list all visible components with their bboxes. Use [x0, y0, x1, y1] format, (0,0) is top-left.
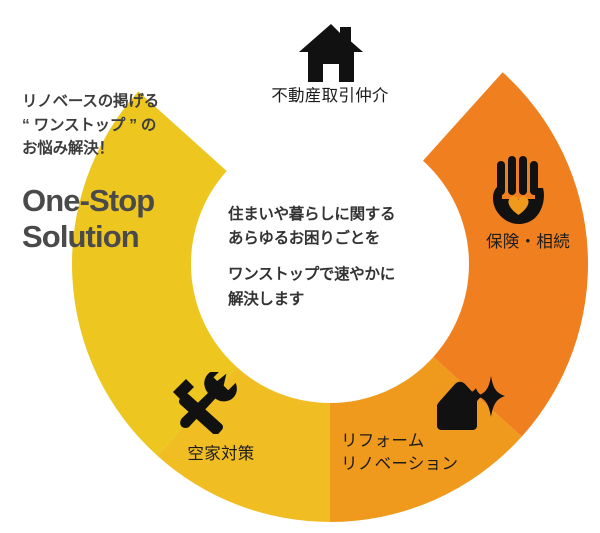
lead-line-2: “ ワンストップ ” の	[22, 114, 232, 138]
page-title: One-Stop Solution	[22, 183, 232, 256]
center-paragraph-1-line-2: あらゆるお困りごとを	[228, 227, 464, 251]
segment-label-insurance[interactable]: 保険・相続	[486, 231, 570, 254]
segment-label-reform-line-2: リノベーション	[341, 453, 458, 476]
lead-line-1: リノベースの掲げる	[22, 90, 232, 114]
center-paragraph-2: ワンストップで速やかに 解決します	[228, 263, 464, 311]
hand-heart-icon	[490, 155, 550, 225]
center-paragraph-2-line-2: 解決します	[228, 288, 464, 312]
center-copy-block: 住まいや暮らしに関する あらゆるお困りごとを ワンストップで速やかに 解決します	[228, 203, 464, 312]
page-title-line-2: Solution	[22, 219, 232, 256]
headline-block: リノベースの掲げる “ ワンストップ ” の お悩み解決！ One-Stop S…	[22, 90, 232, 256]
segment-label-insurance-line-1: 保険・相続	[486, 231, 570, 254]
segment-label-vacant-house-line-1: 空家対策	[187, 443, 254, 466]
center-paragraph-2-line-1: ワンストップで速やかに	[228, 263, 464, 287]
segment-label-reform[interactable]: リフォーム リノベーション	[341, 430, 458, 477]
house-icon	[295, 22, 367, 84]
infographic-canvas: リノベースの掲げる “ ワンストップ ” の お悩み解決！ One-Stop S…	[0, 0, 600, 533]
center-paragraph-1-line-1: 住まいや暮らしに関する	[228, 203, 464, 227]
hammer-wrench-icon	[170, 372, 246, 434]
house-sparkle-icon	[433, 376, 505, 432]
segment-label-vacant-house[interactable]: 空家対策	[187, 443, 254, 466]
center-paragraph-1: 住まいや暮らしに関する あらゆるお困りごとを	[228, 203, 464, 251]
segment-label-real-estate-line-1: 不動産取引仲介	[271, 85, 389, 108]
lead-line-3: お悩み解決！	[22, 137, 232, 161]
page-title-line-1: One-Stop	[22, 183, 154, 218]
segment-label-real-estate[interactable]: 不動産取引仲介	[271, 85, 389, 108]
segment-label-reform-line-1: リフォーム	[341, 430, 458, 453]
